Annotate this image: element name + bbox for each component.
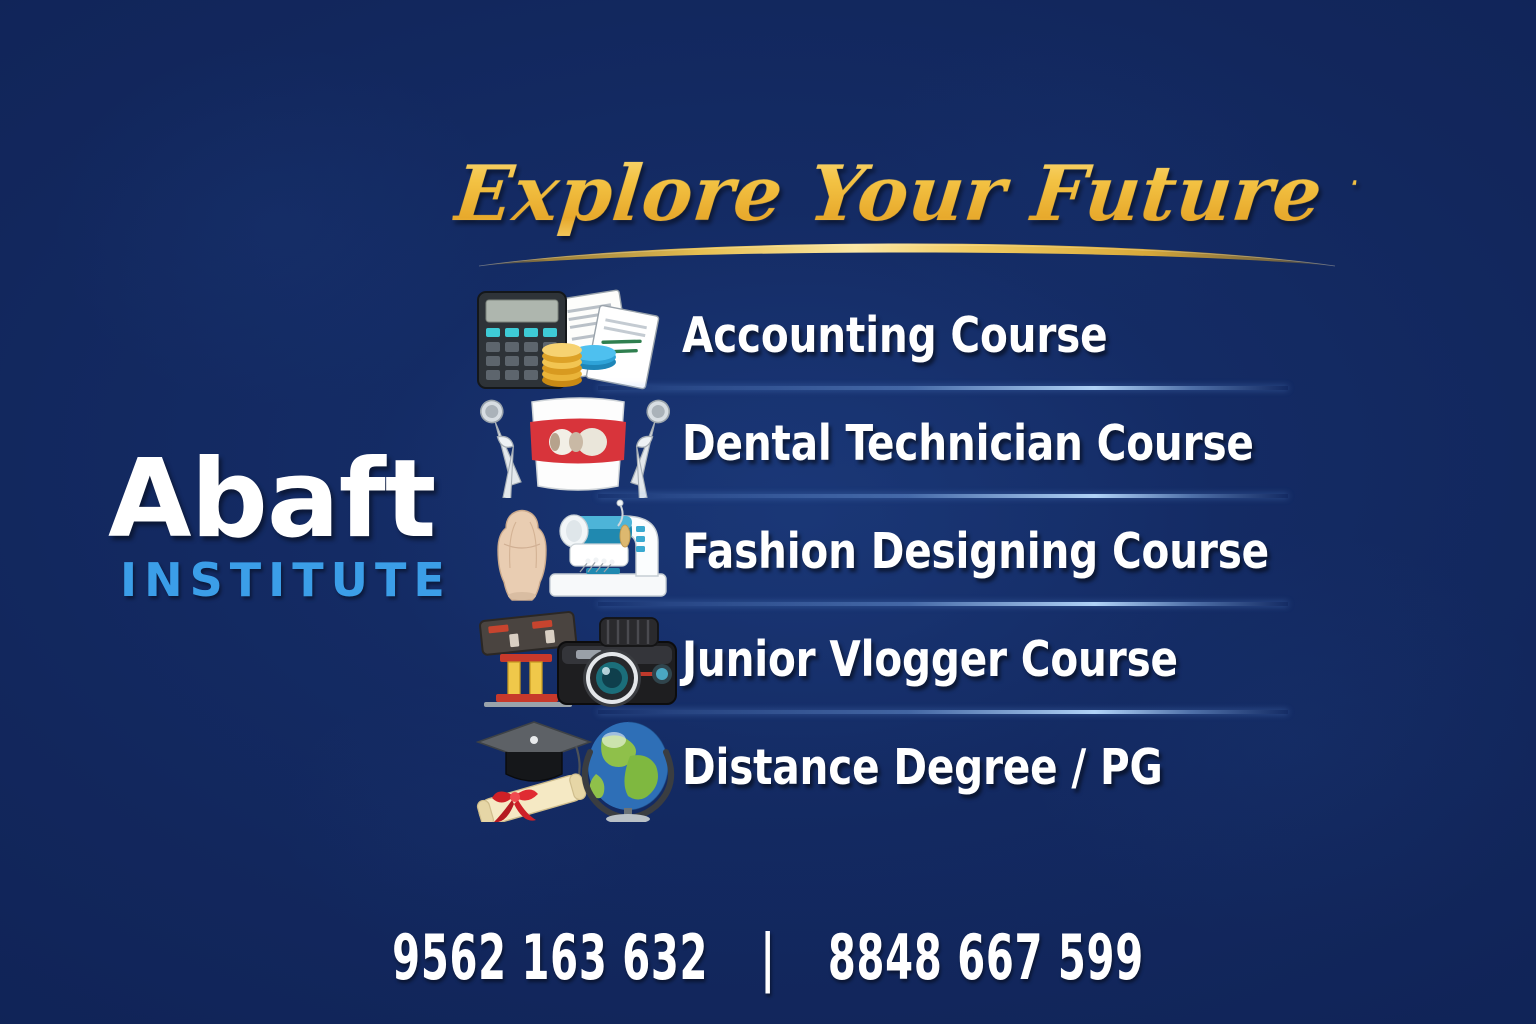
course-row[interactable]: Dental Technician Course	[470, 390, 1330, 498]
phone-numbers[interactable]: 9562 163 632 | 8848 667 599	[392, 922, 1144, 994]
course-row[interactable]: Fashion Designing Course	[470, 498, 1330, 606]
course-row[interactable]: Accounting Course	[470, 282, 1330, 390]
course-label: Dental Technician Course	[682, 417, 1254, 471]
dental-mold-tools-icon	[470, 390, 682, 498]
course-list: Accounting Course	[470, 282, 1330, 822]
course-label: Junior Vlogger Course	[682, 633, 1178, 687]
camera-clapperboard-icon	[470, 606, 682, 714]
gold-swoosh-divider-icon	[477, 232, 1337, 274]
phone-secondary[interactable]: 8848 667 599	[828, 921, 1144, 994]
course-label: Accounting Course	[682, 309, 1107, 363]
calculator-documents-coins-icon	[470, 282, 682, 390]
course-label: Fashion Designing Course	[682, 525, 1269, 579]
brand-name: Abaft	[108, 448, 458, 552]
phone-primary[interactable]: 9562 163 632	[392, 921, 708, 994]
graduation-cap-diploma-globe-icon	[470, 714, 682, 822]
contact-bar: 9562 163 632 | 8848 667 599	[0, 922, 1536, 994]
course-row[interactable]: Distance Degree / PG	[470, 714, 1330, 822]
brand-subtitle: INSTITUTE	[108, 552, 458, 608]
phone-separator: |	[723, 922, 813, 994]
brand-logo: Abaft INSTITUTE	[108, 448, 458, 608]
course-label: Distance Degree / PG	[682, 741, 1163, 795]
headline-block: Explore Your Future with Us!	[455, 140, 1355, 280]
mannequin-sewing-machine-icon	[470, 498, 682, 606]
course-row[interactable]: Junior Vlogger Course	[470, 606, 1330, 714]
promotional-poster: Explore Your Future with Us! Abaft INS	[0, 0, 1536, 1024]
